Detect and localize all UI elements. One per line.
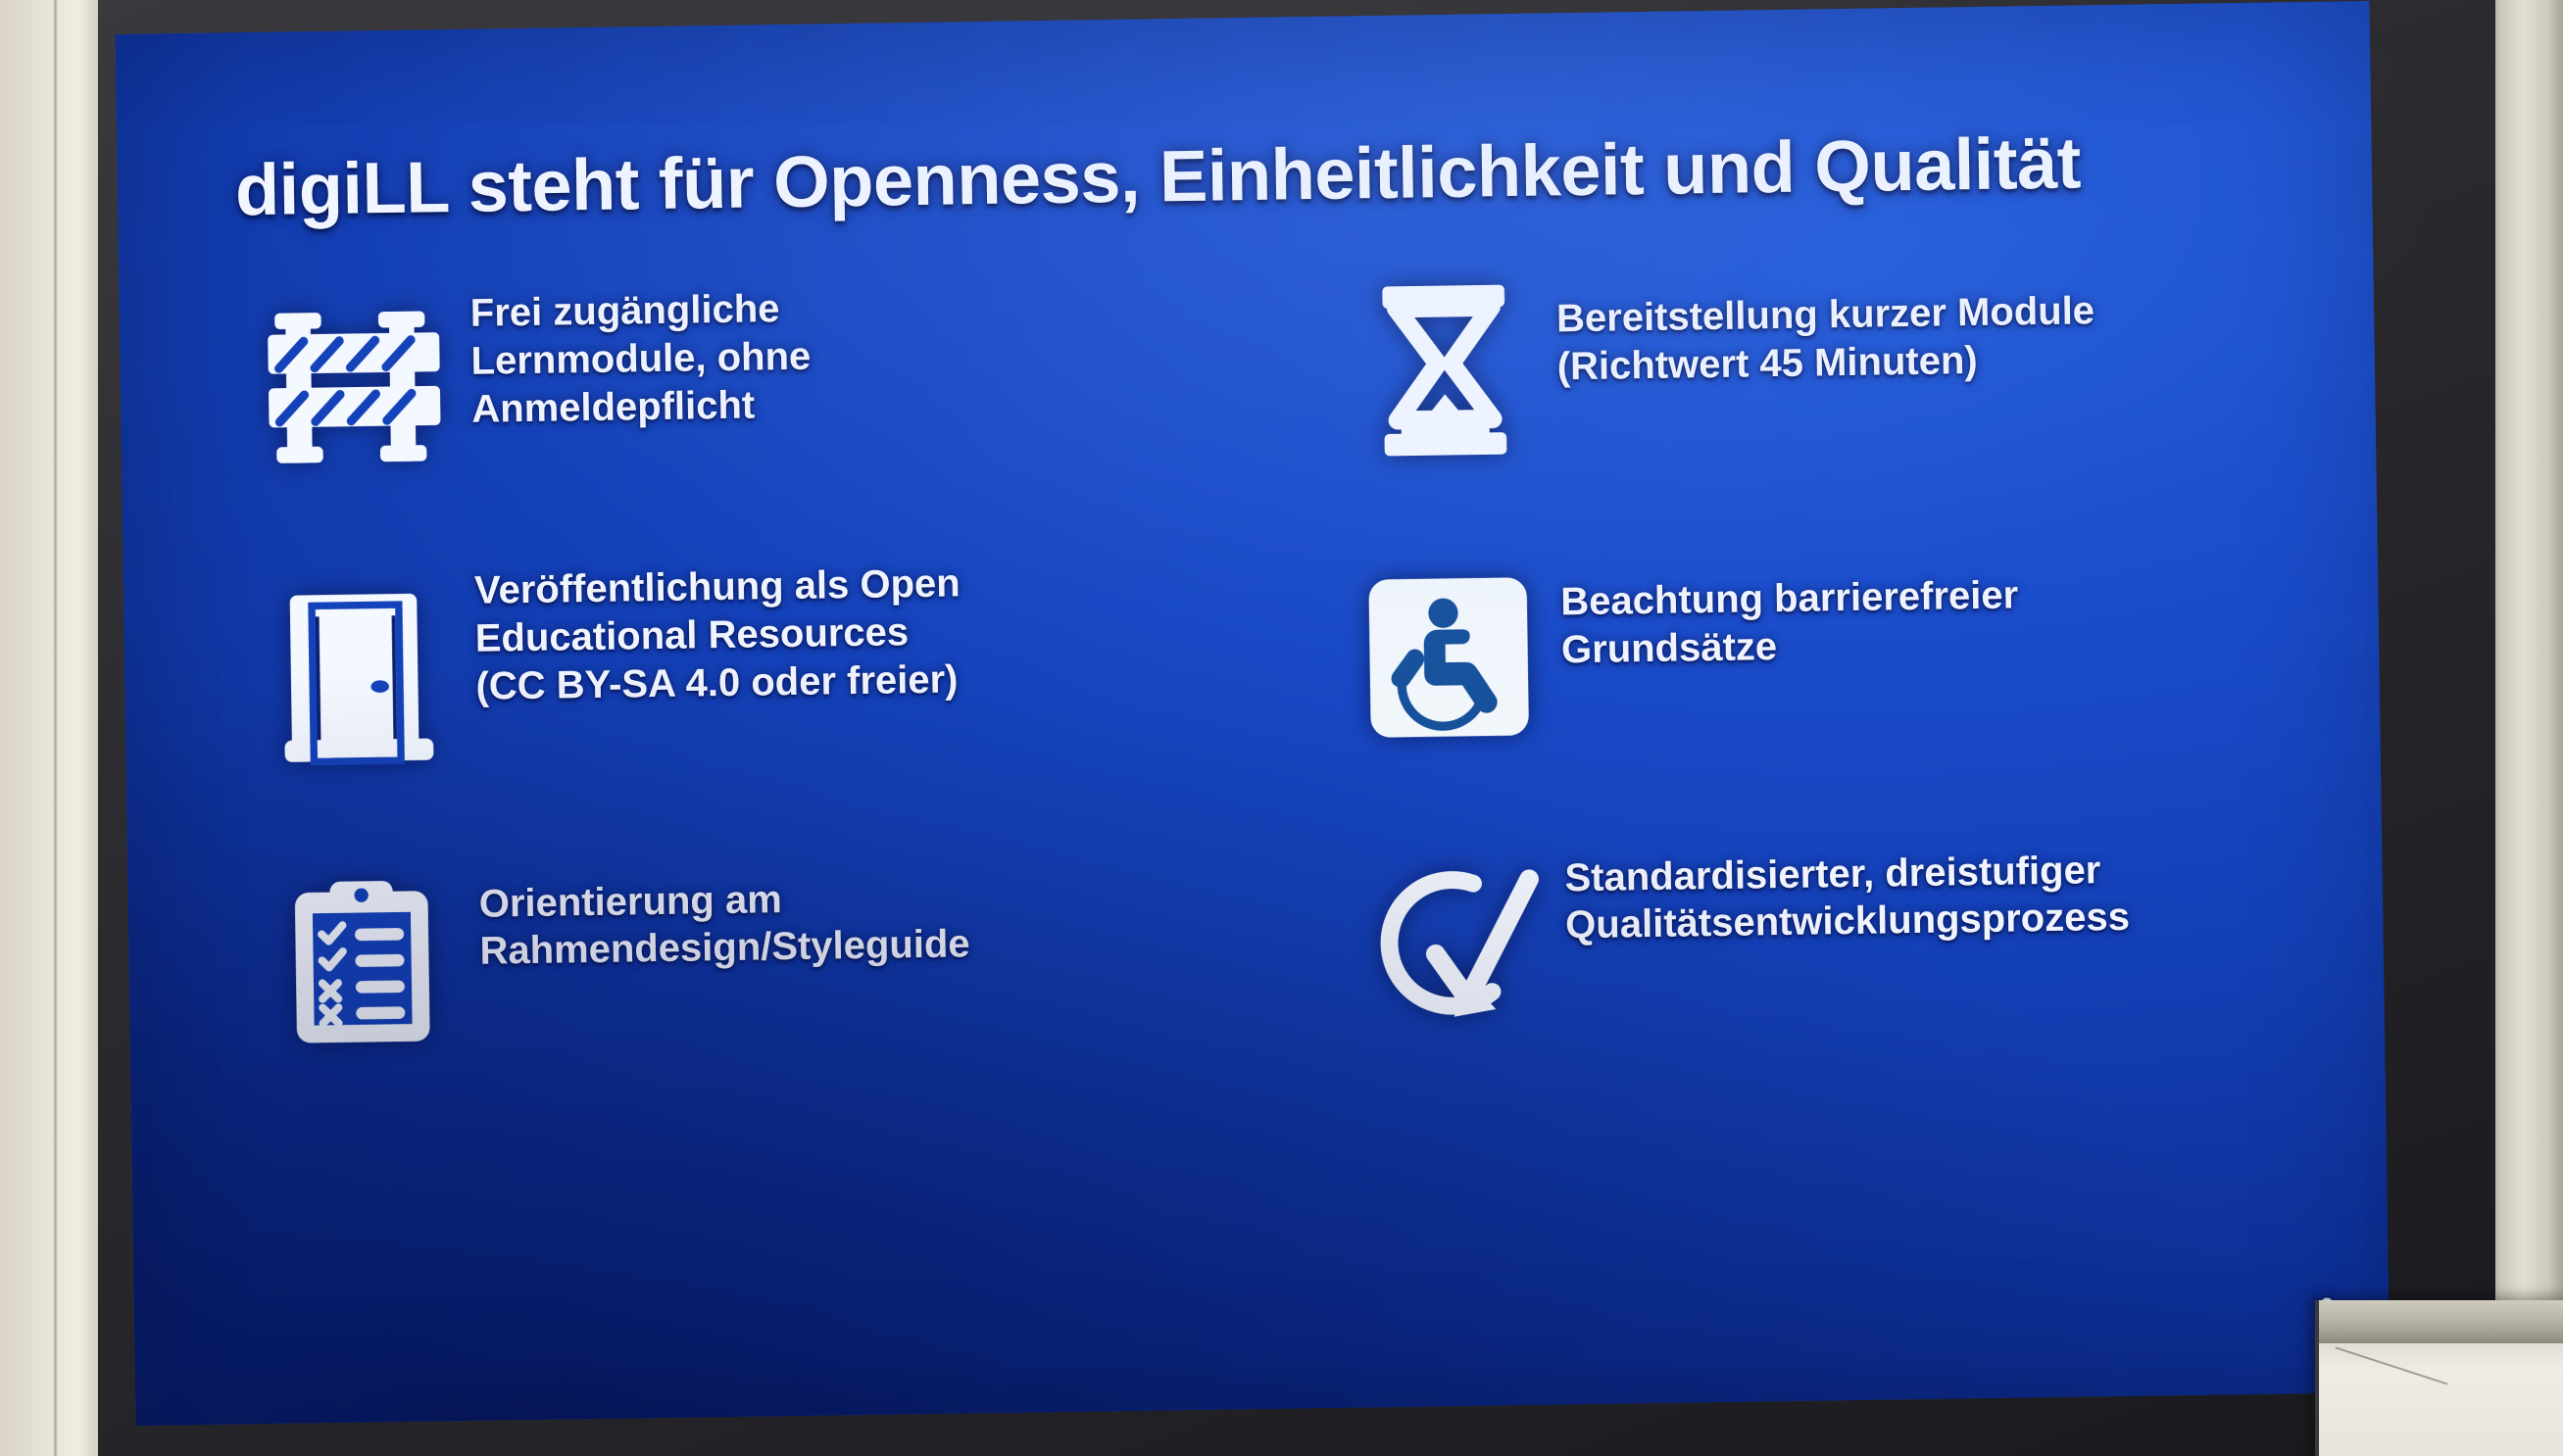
feature-item-short-modules: Bereitstellung kurzer Module (Richtwert … (1283, 246, 2267, 548)
feature-line: Qualitätsentwicklungsprozess (1565, 892, 2274, 950)
feature-line: Rahmendesign/Styleguide (479, 917, 1225, 976)
feature-item-open-access: Frei zugängliche Lernmodule, ohne Anmeld… (234, 262, 1218, 563)
flipchart-board (2315, 1300, 2563, 1456)
feature-line: Grundsätze (1561, 616, 2270, 675)
feature-item-oer-licence: Veröffentlichung als Open Educational Re… (239, 549, 1223, 850)
feature-line: Anmeldepflicht (471, 374, 1217, 433)
feature-line: (CC BY-SA 4.0 oder freier) (475, 652, 1221, 710)
feature-text: Standardisierter, dreistufiger Qualitäts… (1564, 820, 2274, 949)
presentation-slide: digiLL steht für Openness, Einheitlichke… (116, 1, 2390, 1426)
road-barrier-icon (234, 272, 472, 502)
feature-text: Beachtung barrierefreier Grundsätze (1559, 533, 2269, 674)
hourglass-icon (1330, 256, 1558, 484)
feature-grid: Frei zugängliche Lernmodule, ohne Anmeld… (234, 246, 2276, 1139)
paper-crease (2336, 1347, 2448, 1385)
feature-item-accessibility: Beachtung barrierefreier Grundsätze (1287, 533, 2271, 835)
feature-text: Bereitstellung kurzer Module (Richtwert … (1555, 246, 2265, 391)
cycle-checkmark-icon (1339, 831, 1567, 1059)
flipchart-rail (2319, 1300, 2563, 1343)
feature-text: Frei zugängliche Lernmodule, ohne Anmeld… (469, 262, 1216, 434)
feature-text: Veröffentlichung als Open Educational Re… (474, 549, 1221, 711)
wall-right-panel (2487, 0, 2563, 1456)
feature-line: (Richtwert 45 Minuten) (1556, 332, 2265, 391)
feature-item-quality-process: Standardisierter, dreistufiger Qualitäts… (1292, 820, 2276, 1122)
clipboard-checklist-icon (243, 847, 481, 1076)
photographed-projection-scene: digiLL steht für Openness, Einheitlichke… (0, 0, 2563, 1456)
wall-seam (53, 0, 58, 1456)
slide-background: digiLL steht für Openness, Einheitlichke… (116, 1, 2390, 1426)
wheelchair-accessibility-icon (1334, 544, 1562, 772)
feature-text: Orientierung am Rahmendesign/Styleguide (478, 836, 1225, 976)
wall-left-panel (0, 0, 110, 1456)
slide-title: digiLL steht für Openness, Einheitlichke… (234, 119, 2254, 232)
open-door-icon (239, 559, 477, 789)
feature-item-styleguide: Orientierung am Rahmendesign/Styleguide (243, 836, 1227, 1138)
